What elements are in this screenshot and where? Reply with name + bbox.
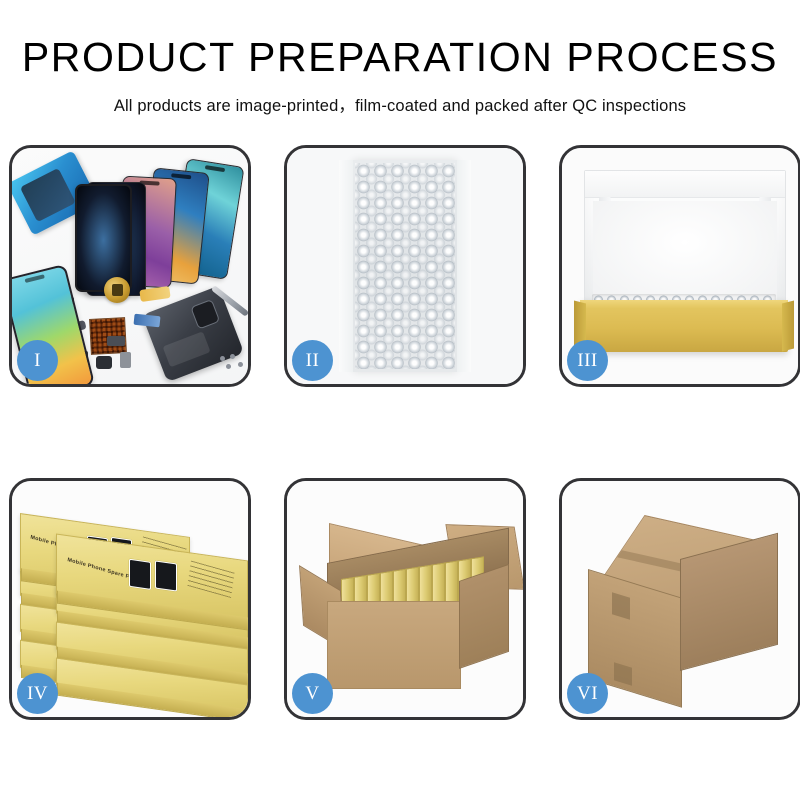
sealed-carton-image [574,515,788,693]
carton-side-face [459,564,509,669]
notch-icon [205,165,225,172]
step-badge-5: V [292,673,333,714]
step-panel-2: II [284,145,526,387]
screws-image [220,354,246,372]
step-panel-6: VI [559,478,800,720]
header: PRODUCT PREPARATION PROCESS All products… [0,0,800,116]
step-badge-4: IV [17,673,58,714]
screen-glass-panel-image [75,184,132,292]
box-side-edge [57,683,248,717]
retail-box-stack-image: Mobile Phone Spare Parts Mobile Phone Sp… [20,503,246,703]
box-screen-graphic [155,560,177,591]
process-steps-grid: I II III [0,145,800,720]
step-badge-3: III [567,340,608,381]
small-component-5-image [107,336,125,346]
small-component-2-image [120,352,131,368]
box-screen-graphic [129,559,151,590]
step-panel-1: I [9,145,251,387]
flex-cable-blue-image [133,314,160,328]
mailer-box-lid-image [584,170,786,312]
bubble-wrap-sheet-image [353,160,457,372]
retail-box-top-front: Mobile Phone Spare Parts [56,534,248,621]
notch-icon [171,173,191,179]
step-panel-3: III [559,145,800,387]
speaker-coil-part-image [104,277,130,303]
step-badge-6: VI [567,673,608,714]
open-carton-image [301,517,515,697]
page-subtitle: All products are image-printed，film-coat… [0,92,800,116]
bubble-pattern-layer-secondary [355,163,455,369]
notch-icon [25,274,45,283]
small-component-1-image [96,356,112,369]
box-text-lines [187,561,234,598]
mailer-box-base-image [580,300,788,352]
step-panel-4: Mobile Phone Spare Parts Mobile Phone Sp… [9,478,251,720]
step-panel-5: V [284,478,526,720]
mailer-base-right-flap [782,301,794,352]
step-badge-2: II [292,340,333,381]
carton-front-face [327,601,461,689]
page-title: PRODUCT PREPARATION PROCESS [0,36,800,79]
step-badge-1: I [17,340,58,381]
flex-cable-gold-image [139,286,170,302]
